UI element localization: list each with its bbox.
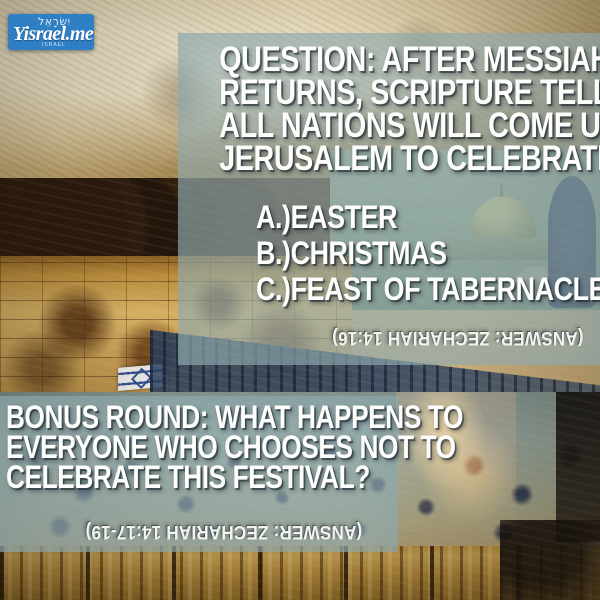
site-logo-badge[interactable]: יִשְׂרָאֵל Yisrael.me ISRAEL	[8, 14, 94, 50]
bonus-headline: BONUS ROUND: WHAT HAPPENS TO EVERYONE WH…	[6, 402, 326, 492]
question-line-2: RETURNS, SCRIPTURE TELLS US THAT	[219, 77, 558, 110]
sukkah-shadow	[500, 520, 600, 600]
bonus-line-1: BONUS ROUND: WHAT HAPPENS TO	[6, 402, 326, 432]
logo-subtitle: ISRAEL	[42, 42, 66, 48]
bonus-line-2: EVERYONE WHO CHOOSES NOT TO	[6, 432, 326, 462]
question-line-1: QUESTION: AFTER MESSIAH	[219, 44, 558, 77]
bonus-answer-key: (ANSWER: ZECHARIAH 14:17-19)	[85, 520, 362, 542]
answer-options-list: A.)EASTER B.)CHRISTMAS C.)FEAST OF TABER…	[256, 200, 547, 307]
bonus-line-3: CELEBRATE THIS FESTIVAL?	[6, 462, 326, 492]
quiz-graphic: יִשְׂרָאֵל Yisrael.me ISRAEL QUESTION: A…	[0, 0, 600, 600]
question-line-4: JERUSALEM TO CELEBRATE WHAT?	[219, 143, 558, 176]
option-c[interactable]: C.)FEAST OF TABERNACLES	[256, 272, 547, 308]
question-line-3: ALL NATIONS WILL COME UP TO	[219, 110, 558, 143]
question-answer-key: (ANSWER: ZECHARIAH 14:16)	[332, 326, 584, 348]
option-a[interactable]: A.)EASTER	[256, 200, 547, 236]
option-b[interactable]: B.)CHRISTMAS	[256, 236, 547, 272]
question-headline: QUESTION: AFTER MESSIAH RETURNS, SCRIPTU…	[219, 44, 558, 176]
